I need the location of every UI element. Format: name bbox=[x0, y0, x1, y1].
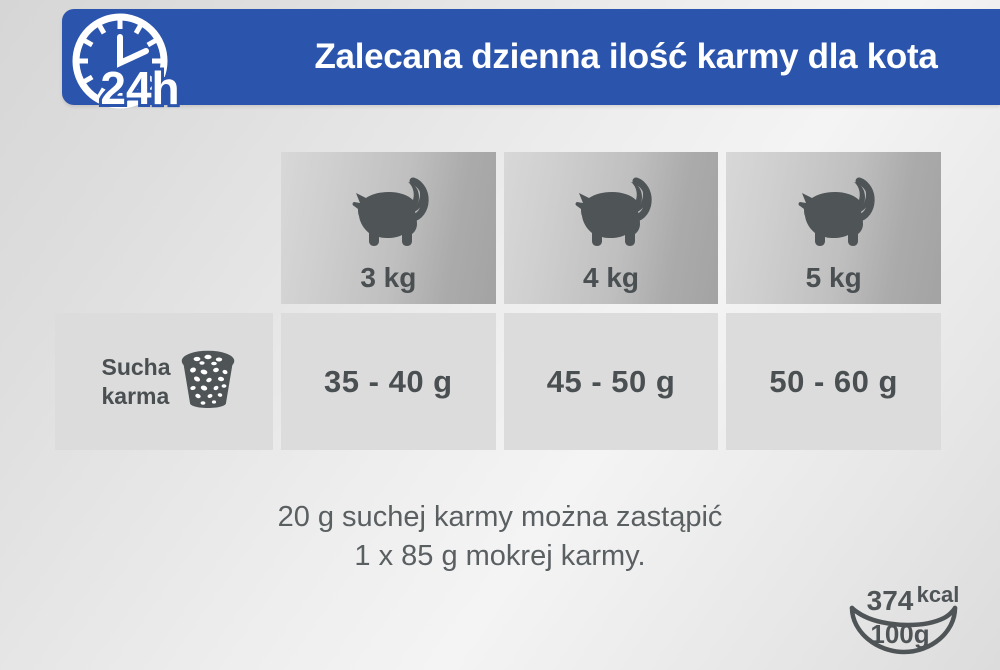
feeding-table: 3 kg 4 kg bbox=[55, 152, 941, 450]
table-corner-cell bbox=[55, 152, 273, 304]
table-header-row: 3 kg 4 kg bbox=[55, 152, 941, 304]
page-title: Zalecana dzienna ilość karmy dla kota bbox=[268, 9, 984, 105]
footnote: 20 g suchej karmy można zastąpić 1 x 85 … bbox=[0, 498, 1000, 577]
kcal-value: 374 bbox=[867, 585, 914, 616]
row-label-line2: karma bbox=[101, 383, 169, 409]
value-cell-1: 35 - 40 g bbox=[281, 313, 496, 450]
footnote-line-2: 1 x 85 g mokrej karmy. bbox=[0, 537, 1000, 576]
dry-food-cup-icon bbox=[179, 348, 237, 415]
kcal-badge: 374 kcal 100g bbox=[838, 580, 978, 658]
value-text: 45 - 50 g bbox=[547, 364, 676, 400]
cat-icon bbox=[342, 173, 434, 260]
infographic-page: Zalecana dzienna ilość karmy dla kota bbox=[0, 0, 1000, 670]
kcal-unit: kcal bbox=[917, 582, 960, 607]
column-header-2: 4 kg bbox=[504, 152, 719, 304]
column-weight-2: 4 kg bbox=[583, 264, 639, 292]
value-cell-3: 50 - 60 g bbox=[726, 313, 941, 450]
value-cell-2: 45 - 50 g bbox=[504, 313, 719, 450]
value-text: 35 - 40 g bbox=[324, 364, 453, 400]
table-row: Sucha karma bbox=[55, 313, 941, 450]
cat-icon bbox=[788, 173, 880, 260]
row-label: Sucha karma bbox=[101, 353, 170, 409]
kcal-per: 100g bbox=[870, 619, 929, 649]
cat-icon bbox=[565, 173, 657, 260]
row-label-cell: Sucha karma bbox=[55, 313, 273, 450]
clock-24h-icon: 24h bbox=[58, 6, 208, 118]
column-header-1: 3 kg bbox=[281, 152, 496, 304]
row-label-line1: Sucha bbox=[101, 354, 170, 380]
footnote-line-1: 20 g suchej karmy można zastąpić bbox=[0, 498, 1000, 537]
column-weight-1: 3 kg bbox=[360, 264, 416, 292]
value-text: 50 - 60 g bbox=[769, 364, 898, 400]
column-weight-3: 5 kg bbox=[806, 264, 862, 292]
clock-badge-label: 24h bbox=[100, 62, 179, 114]
column-header-3: 5 kg bbox=[726, 152, 941, 304]
